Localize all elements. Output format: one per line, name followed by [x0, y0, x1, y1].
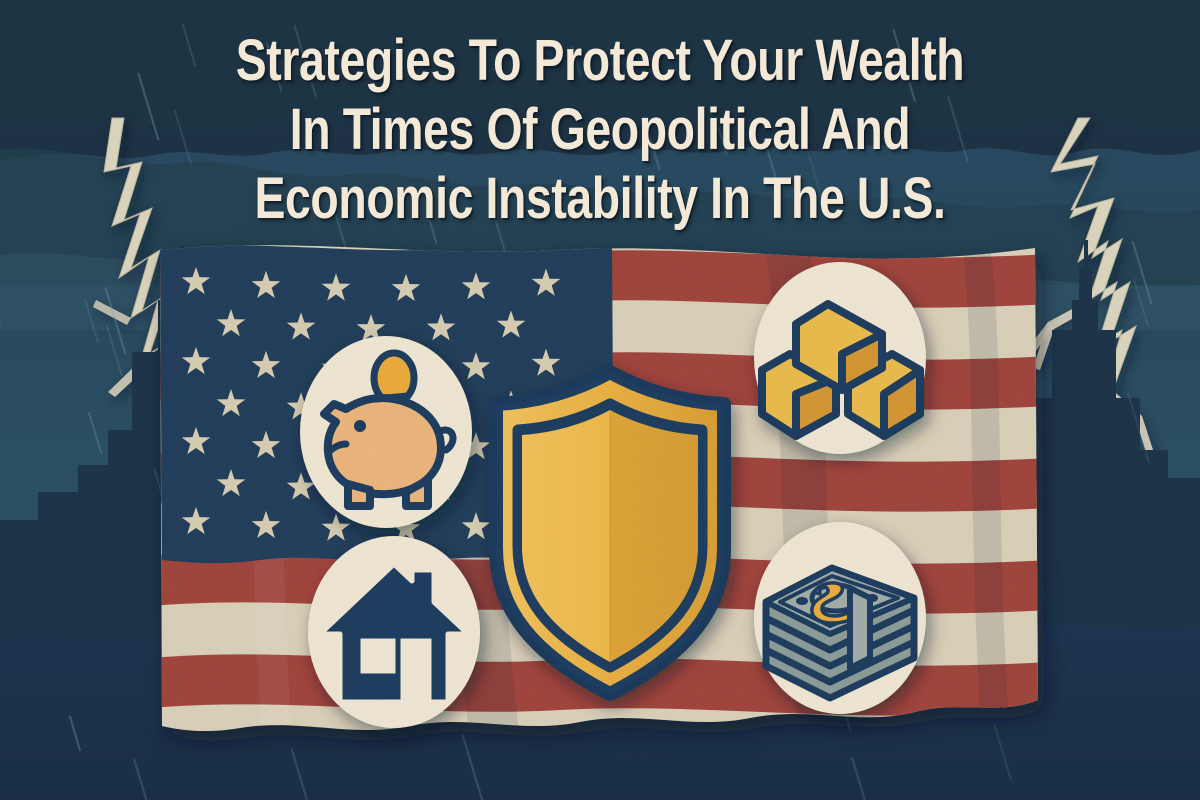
badge-cash [754, 522, 926, 714]
central-shield [496, 372, 724, 694]
badge-real-estate [308, 536, 480, 728]
poster-canvas: Strategies To Protect Your Wealth In Tim… [0, 0, 1200, 800]
badge-savings [300, 336, 472, 528]
badge-gold [754, 262, 926, 454]
icons-layer [0, 0, 1200, 800]
